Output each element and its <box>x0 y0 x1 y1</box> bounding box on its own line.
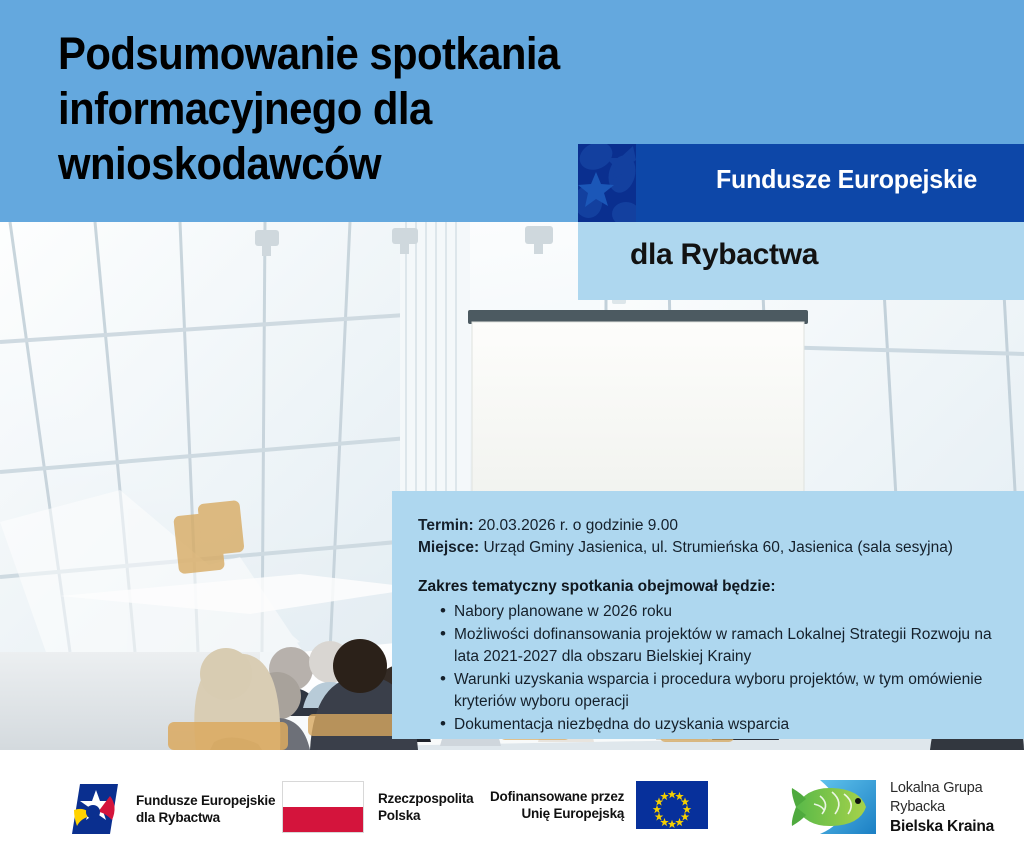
fe-badge-bar: Fundusze Europejskie <box>578 144 1024 222</box>
fundusze-europejskie-badge: Fundusze Europejskie dla Rybactwa <box>578 144 1024 300</box>
footer-logo-bar: Fundusze Europejskie dla Rybactwa Rzeczp… <box>0 750 1024 858</box>
term-label: Termin: <box>418 517 474 534</box>
lgr-line-3: Bielska Kraina <box>890 817 994 836</box>
fe-star-pattern-icon <box>578 144 636 222</box>
meeting-place-line: Miejsce: Urząd Gminy Jasienica, ul. Stru… <box>418 537 998 559</box>
lgr-bielska-kraina-logo: Lokalna Grupa Rybacka Bielska Kraina <box>790 776 994 838</box>
list-item: Nabory planowane w 2026 roku <box>440 601 998 623</box>
star-blobs-icon <box>578 144 636 222</box>
fe-badge-subtitle: dla Rybactwa <box>630 238 818 272</box>
fe-badge-title: Fundusze Europejskie <box>716 164 977 195</box>
list-item: Dokumentacja niezbędna do uzyskania wspa… <box>440 714 998 736</box>
term-value: 20.03.2026 r. o godzinie 9.00 <box>474 517 678 534</box>
meeting-term-line: Termin: 20.03.2026 r. o godzinie 9.00 <box>418 515 998 537</box>
eu-label: Dofinansowane przez Unię Europejską <box>490 788 624 822</box>
poland-flag-icon <box>282 781 364 833</box>
flag-white-stripe <box>283 782 363 807</box>
lgr-line-2: Rybacka <box>890 798 994 817</box>
fish-logo-icon <box>790 776 880 838</box>
scope-list: Nabory planowane w 2026 roku Możliwości … <box>418 601 998 736</box>
lgr-label: Lokalna Grupa Rybacka Bielska Kraina <box>890 779 994 836</box>
place-value: Urząd Gminy Jasienica, ul. Strumieńska 6… <box>479 539 953 556</box>
fe-flag-icon <box>66 780 124 838</box>
fundusze-europejskie-footer-logo: Fundusze Europejskie dla Rybactwa <box>66 780 275 838</box>
list-item: Warunki uzyskania wsparcia i procedura w… <box>440 669 998 713</box>
european-union-logo: Dofinansowane przez Unię Europejską <box>490 781 708 829</box>
poster-canvas: Podsumowanie spotkania informacyjnego dl… <box>0 0 1024 858</box>
eu-flag-icon <box>636 781 708 829</box>
place-label: Miejsce: <box>418 539 479 556</box>
list-item: Możliwości dofinansowania projektów w ra… <box>440 624 998 668</box>
lgr-line-1: Lokalna Grupa <box>890 779 994 798</box>
eu-stars-icon <box>636 781 708 829</box>
scope-heading: Zakres tematyczny spotkania obejmował bę… <box>418 576 998 598</box>
fe-footer-label: Fundusze Europejskie dla Rybactwa <box>136 792 275 826</box>
flag-red-stripe <box>283 807 363 832</box>
fe-badge-subtitle-bar: dla Rybactwa <box>578 222 1024 300</box>
meeting-info-panel: Termin: 20.03.2026 r. o godzinie 9.00 Mi… <box>392 491 1024 739</box>
rzeczpospolita-polska-logo: Rzeczpospolita Polska <box>282 781 473 833</box>
poland-label: Rzeczpospolita Polska <box>378 790 473 824</box>
